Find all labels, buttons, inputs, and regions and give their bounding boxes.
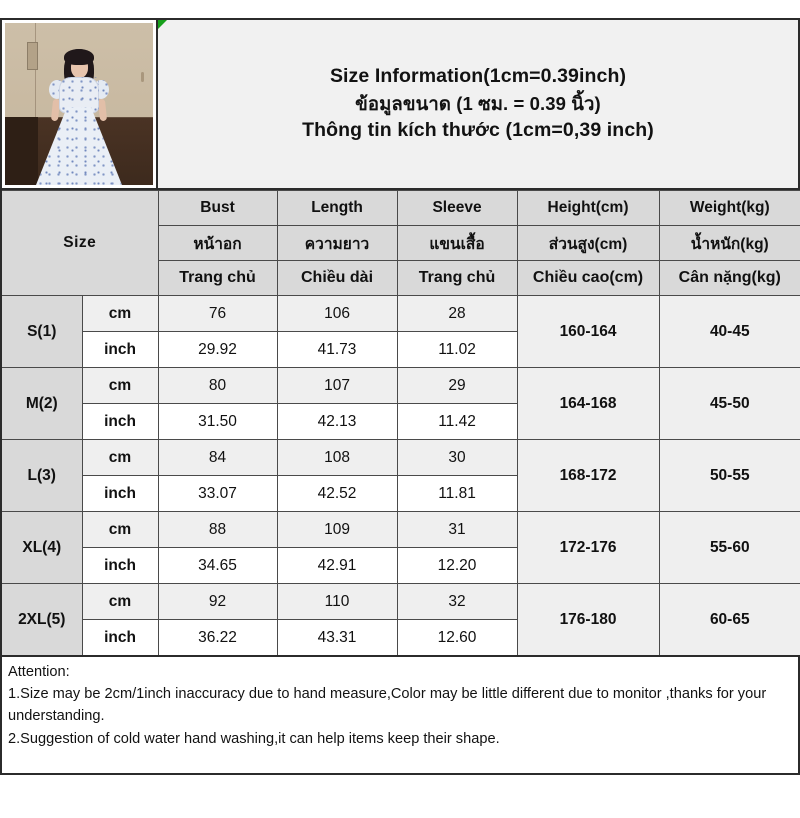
bust-inch-m: 31.50 bbox=[158, 404, 277, 440]
title-english: Size Information(1cm=0.39inch) bbox=[330, 63, 626, 91]
size-table: Size Bust Length Sleeve Height(cm) Weigh… bbox=[0, 190, 800, 657]
unit-cell-cm: cm bbox=[82, 440, 158, 476]
bust-inch-l: 33.07 bbox=[158, 476, 277, 512]
sleeve-inch-m: 11.42 bbox=[397, 404, 517, 440]
header-row-english: Size Bust Length Sleeve Height(cm) Weigh… bbox=[1, 191, 800, 226]
header-bust-th: หน้าอก bbox=[158, 226, 277, 261]
size-chart-sheet: Size Information(1cm=0.39inch) ข้อมูลขนา… bbox=[0, 18, 800, 818]
attention-note-2: 2.Suggestion of cold water hand washing,… bbox=[8, 728, 792, 750]
bust-inch-xl: 34.65 bbox=[158, 548, 277, 584]
size-column-header: Size bbox=[1, 191, 158, 296]
unit-cell-cm: cm bbox=[82, 368, 158, 404]
weight-m: 45-50 bbox=[659, 368, 800, 440]
dress-skirt bbox=[36, 107, 122, 185]
title-cell: Size Information(1cm=0.39inch) ข้อมูลขนา… bbox=[157, 18, 800, 190]
length-cm-l: 108 bbox=[277, 440, 397, 476]
attention-heading: Attention: bbox=[8, 661, 792, 683]
unit-cell-cm: cm bbox=[82, 584, 158, 620]
comment-marker-icon bbox=[158, 20, 167, 29]
arm-right bbox=[98, 99, 107, 122]
table-row: L(3) cm 84 108 30 168-172 50-55 bbox=[1, 440, 800, 476]
length-inch-2xl: 43.31 bbox=[277, 620, 397, 657]
header-weight-th: น้ำหนัก(kg) bbox=[659, 226, 800, 261]
length-inch-s: 41.73 bbox=[277, 332, 397, 368]
header-bust-vi: Trang chủ bbox=[158, 261, 277, 296]
unit-cell-inch: inch bbox=[82, 620, 158, 657]
model-hair-front bbox=[64, 49, 94, 65]
wall-frame bbox=[27, 42, 38, 70]
header-length-en: Length bbox=[277, 191, 397, 226]
sleeve-cm-2xl: 32 bbox=[397, 584, 517, 620]
unit-cell-inch: inch bbox=[82, 548, 158, 584]
length-cm-m: 107 bbox=[277, 368, 397, 404]
sleeve-inch-s: 11.02 bbox=[397, 332, 517, 368]
header-sleeve-vi: Trang chủ bbox=[397, 261, 517, 296]
unit-cell-inch: inch bbox=[82, 476, 158, 512]
unit-cell-inch: inch bbox=[82, 332, 158, 368]
length-inch-xl: 42.91 bbox=[277, 548, 397, 584]
header-height-vi: Chiều cao(cm) bbox=[517, 261, 659, 296]
bust-inch-s: 29.92 bbox=[158, 332, 277, 368]
sleeve-cm-m: 29 bbox=[397, 368, 517, 404]
header-bust-en: Bust bbox=[158, 191, 277, 226]
bust-cm-s: 76 bbox=[158, 296, 277, 332]
sleeve-inch-xl: 12.20 bbox=[397, 548, 517, 584]
header-sleeve-en: Sleeve bbox=[397, 191, 517, 226]
table-row: M(2) cm 80 107 29 164-168 45-50 bbox=[1, 368, 800, 404]
size-cell-s: S(1) bbox=[1, 296, 82, 368]
table-row: 2XL(5) cm 92 110 32 176-180 60-65 bbox=[1, 584, 800, 620]
header-sleeve-th: แขนเสื้อ bbox=[397, 226, 517, 261]
length-cm-xl: 109 bbox=[277, 512, 397, 548]
height-s: 160-164 bbox=[517, 296, 659, 368]
sleeve-inch-l: 11.81 bbox=[397, 476, 517, 512]
title-vietnamese: Thông tin kích thước (1cm=0,39 inch) bbox=[302, 117, 654, 145]
sleeve-cm-xl: 31 bbox=[397, 512, 517, 548]
length-inch-m: 42.13 bbox=[277, 404, 397, 440]
weight-xl: 55-60 bbox=[659, 512, 800, 584]
table-row: S(1) cm 76 106 28 160-164 40-45 bbox=[1, 296, 800, 332]
attention-box: Attention: 1.Size may be 2cm/1inch inacc… bbox=[0, 657, 800, 775]
weight-2xl: 60-65 bbox=[659, 584, 800, 657]
header-height-en: Height(cm) bbox=[517, 191, 659, 226]
height-l: 168-172 bbox=[517, 440, 659, 512]
attention-note-1: 1.Size may be 2cm/1inch inaccuracy due t… bbox=[8, 683, 792, 727]
length-inch-l: 42.52 bbox=[277, 476, 397, 512]
header-length-vi: Chiều dài bbox=[277, 261, 397, 296]
bust-cm-2xl: 92 bbox=[158, 584, 277, 620]
weight-l: 50-55 bbox=[659, 440, 800, 512]
door-handle bbox=[141, 72, 144, 82]
table-head: Size Bust Length Sleeve Height(cm) Weigh… bbox=[1, 191, 800, 296]
unit-cell-cm: cm bbox=[82, 512, 158, 548]
height-xl: 172-176 bbox=[517, 512, 659, 584]
size-cell-2xl: 2XL(5) bbox=[1, 584, 82, 657]
length-cm-2xl: 110 bbox=[277, 584, 397, 620]
table-row: XL(4) cm 88 109 31 172-176 55-60 bbox=[1, 512, 800, 548]
floor-shadow bbox=[5, 117, 38, 185]
header-height-th: ส่วนสูง(cm) bbox=[517, 226, 659, 261]
size-cell-m: M(2) bbox=[1, 368, 82, 440]
header-weight-vi: Cân nặng(kg) bbox=[659, 261, 800, 296]
table-body: S(1) cm 76 106 28 160-164 40-45 inch 29.… bbox=[1, 296, 800, 657]
bust-inch-2xl: 36.22 bbox=[158, 620, 277, 657]
weight-s: 40-45 bbox=[659, 296, 800, 368]
size-cell-l: L(3) bbox=[1, 440, 82, 512]
sleeve-inch-2xl: 12.60 bbox=[397, 620, 517, 657]
title-thai: ข้อมูลขนาด (1 ซม. = 0.39 นิ้ว) bbox=[355, 91, 601, 117]
product-photo bbox=[5, 23, 153, 185]
sleeve-cm-s: 28 bbox=[397, 296, 517, 332]
header-block: Size Information(1cm=0.39inch) ข้อมูลขนา… bbox=[0, 18, 800, 190]
sleeve-cm-l: 30 bbox=[397, 440, 517, 476]
unit-cell-inch: inch bbox=[82, 404, 158, 440]
unit-cell-cm: cm bbox=[82, 296, 158, 332]
header-length-th: ความยาว bbox=[277, 226, 397, 261]
length-cm-s: 106 bbox=[277, 296, 397, 332]
header-weight-en: Weight(kg) bbox=[659, 191, 800, 226]
bust-cm-m: 80 bbox=[158, 368, 277, 404]
size-cell-xl: XL(4) bbox=[1, 512, 82, 584]
bust-cm-xl: 88 bbox=[158, 512, 277, 548]
height-2xl: 176-180 bbox=[517, 584, 659, 657]
bust-cm-l: 84 bbox=[158, 440, 277, 476]
height-m: 164-168 bbox=[517, 368, 659, 440]
product-photo-cell bbox=[0, 18, 157, 190]
